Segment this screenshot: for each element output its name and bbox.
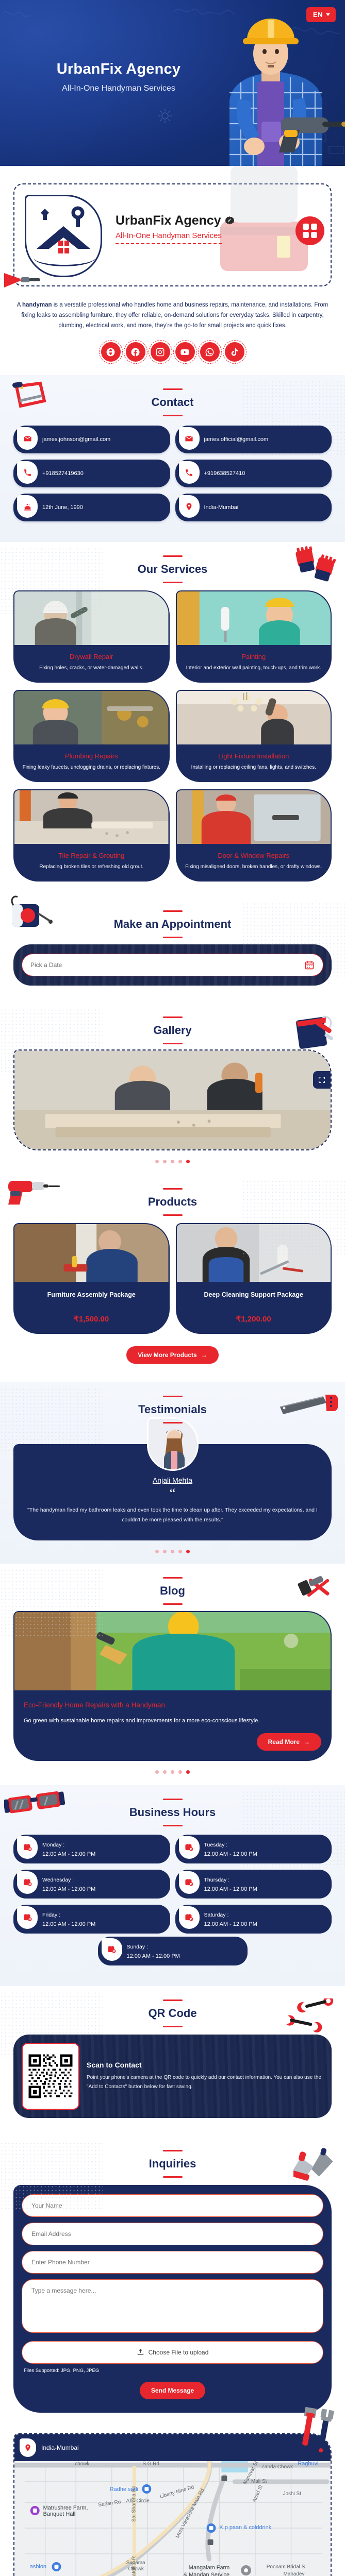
service-name: Door & Window Repairs xyxy=(183,852,325,859)
service-card[interactable]: Light Fixture Installation Installing or… xyxy=(176,690,332,782)
map-header: India-Mumbai xyxy=(14,2434,331,2461)
service-name: Painting xyxy=(183,653,325,660)
calendar-icon xyxy=(304,960,315,970)
gallery-title: Gallery xyxy=(0,1016,345,1044)
brand-tagline: All-In-One Handyman Services xyxy=(116,231,222,244)
email-input[interactable] xyxy=(22,2223,323,2245)
pagination-dot[interactable] xyxy=(178,1550,182,1553)
svg-text:Raghuvi: Raghuvi xyxy=(298,2461,318,2467)
service-image xyxy=(177,790,331,844)
svg-text:Poonam Bridal S: Poonam Bridal S xyxy=(267,2564,305,2570)
blog-post-title: Eco-Friendly Home Repairs with a Handyma… xyxy=(24,1701,321,1709)
service-image xyxy=(177,691,331,744)
pliers-decoration-icon xyxy=(3,270,44,291)
svg-text:Sudama: Sudama xyxy=(126,2560,145,2566)
pagination-dot-active[interactable] xyxy=(186,1160,190,1163)
pagination-dot-active[interactable] xyxy=(186,1770,190,1774)
svg-text:Joshi St: Joshi St xyxy=(283,2491,302,2497)
whatsapp-icon[interactable] xyxy=(200,342,220,362)
service-name: Drywall Repair xyxy=(21,653,162,660)
cake-icon xyxy=(17,495,38,518)
product-price: ₹1,200.00 xyxy=(182,1314,326,1324)
appointment-card: Pick a Date xyxy=(13,944,332,986)
vcard-page: EN UrbanFix Agency All-In-One Handyman S… xyxy=(0,0,345,2576)
language-selector[interactable]: EN xyxy=(306,7,336,22)
date-picker-input[interactable]: Pick a Date xyxy=(22,954,323,976)
youtube-icon[interactable] xyxy=(175,342,195,362)
business-hour-day: Saturday : xyxy=(204,1912,229,1918)
pagination-dot[interactable] xyxy=(178,1160,182,1163)
gallery-slide[interactable] xyxy=(13,1049,332,1150)
business-hour-day: Friday : xyxy=(42,1912,60,1918)
service-desc: Fixing holes, cracks, or water-damaged w… xyxy=(21,664,162,672)
arrow-right-icon: → xyxy=(304,1738,310,1745)
service-image xyxy=(14,790,169,844)
service-card[interactable]: Door & Window Repairs Fixing misaligned … xyxy=(176,789,332,882)
pagination-dot[interactable] xyxy=(171,1160,174,1163)
inquiries-title: Inquiries xyxy=(0,2150,345,2178)
gallery-pagination xyxy=(13,1150,332,1166)
brand-name: UrbanFix Agency xyxy=(116,213,221,228)
calendar-clock-icon xyxy=(17,1836,38,1859)
business-hour-time: 12:00 AM - 12:00 PM xyxy=(204,1921,257,1927)
pagination-dot[interactable] xyxy=(178,1770,182,1774)
business-hour-time: 12:00 AM - 12:00 PM xyxy=(127,1953,180,1959)
contact-item-location[interactable]: India-Mumbai xyxy=(175,494,332,521)
svg-text:Chowk: Chowk xyxy=(128,2566,144,2572)
business-hour-row: Friday : 12:00 AM - 12:00 PM xyxy=(13,1905,170,1934)
calendar-clock-icon xyxy=(17,1871,38,1894)
pagination-dot[interactable] xyxy=(155,1160,159,1163)
language-label: EN xyxy=(313,11,323,19)
phone-icon xyxy=(17,461,38,484)
testimonials-title: Testimonials xyxy=(0,1396,345,1423)
contact-item-email-2[interactable]: james.official@gmail.com xyxy=(175,426,332,453)
testimonial-text: "The handyman fixed my bathroom leaks an… xyxy=(25,1505,320,1525)
business-hour-time: 12:00 AM - 12:00 PM xyxy=(204,1851,257,1857)
product-name: Deep Cleaning Support Package xyxy=(182,1291,326,1309)
business-hours-grid: Monday : 12:00 AM - 12:00 PM Tuesday : 1… xyxy=(0,1826,345,1937)
service-name: Tile Repair & Grouting xyxy=(21,852,162,859)
contact-item-birthday[interactable]: 12th June, 1990 xyxy=(13,494,170,521)
social-links xyxy=(0,342,345,362)
service-desc: Replacing broken tiles or refreshing old… xyxy=(21,863,162,871)
message-textarea[interactable] xyxy=(22,2279,323,2333)
contact-value: james.official@gmail.com xyxy=(204,436,269,443)
qr-card: Scan to Contact Point your phone's camer… xyxy=(13,2035,332,2118)
testimonials-section: Testimonials Anjali Mehta “ "The handyma… xyxy=(0,1382,345,1564)
contact-item-email-1[interactable]: james.johnson@gmail.com xyxy=(13,426,170,453)
product-image xyxy=(14,1224,169,1282)
qr-card-title: Scan to Contact xyxy=(87,2061,323,2069)
pagination-dot[interactable] xyxy=(155,1550,159,1553)
business-hour-row: Wednesday : 12:00 AM - 12:00 PM xyxy=(13,1870,170,1899)
calendar-clock-icon xyxy=(179,1871,200,1894)
calendar-clock-icon xyxy=(179,1836,200,1859)
calendar-clock-icon xyxy=(179,1906,200,1929)
file-upload-button[interactable]: Choose File to upload xyxy=(22,2341,323,2364)
business-hour-time: 12:00 AM - 12:00 PM xyxy=(42,1921,95,1927)
service-card[interactable]: Tile Repair & Grouting Replacing broken … xyxy=(13,789,170,882)
inquiries-section: Inquiries Choose File to upload Files Su… xyxy=(0,2137,345,2430)
service-card[interactable]: Plumbing Repairs Fixing leaky faucets, u… xyxy=(13,690,170,782)
svg-text:chowk: chowk xyxy=(75,2461,89,2467)
svg-text:ashion: ashion xyxy=(30,2564,46,2570)
pagination-dot[interactable] xyxy=(171,1770,174,1774)
business-hour-day: Monday : xyxy=(42,1842,64,1848)
about-keyword: handyman xyxy=(22,302,52,308)
file-upload-label: Choose File to upload xyxy=(149,2349,209,2356)
services-title: Our Services xyxy=(0,555,345,583)
service-name: Light Fixture Installation xyxy=(183,752,325,760)
brand-card: UrbanFix Agency ✓ All-In-One Handyman Se… xyxy=(13,183,332,286)
svg-text:Banquet Hall: Banquet Hall xyxy=(43,2511,76,2517)
svg-text:S.G Rd: S.G Rd xyxy=(142,2461,159,2467)
svg-text:K.p paan & colddrink: K.p paan & colddrink xyxy=(219,2524,271,2531)
website-icon[interactable] xyxy=(101,342,121,362)
arrow-right-icon: → xyxy=(201,1351,207,1359)
calendar-clock-icon xyxy=(17,1906,38,1929)
location-icon xyxy=(20,2438,36,2457)
hero-banner: EN UrbanFix Agency All-In-One Handyman S… xyxy=(0,0,345,166)
chevron-down-icon xyxy=(326,13,330,16)
testimonials-pagination xyxy=(13,1540,332,1556)
appointment-section: Make an Appointment Pick a Date xyxy=(0,897,345,1003)
hero-text-block: UrbanFix Agency All-In-One Handyman Serv… xyxy=(0,61,237,93)
business-hour-row-sunday: Sunday : 12:00 AM - 12:00 PM xyxy=(98,1937,248,1965)
qr-code-image[interactable] xyxy=(22,2043,79,2110)
svg-text:Zanda Chowk: Zanda Chowk xyxy=(261,2464,293,2470)
quote-icon: “ xyxy=(25,1488,320,1499)
about-section: UrbanFix Agency ✓ All-In-One Handyman Se… xyxy=(0,166,345,375)
svg-text:Abc Circle: Abc Circle xyxy=(126,2498,150,2504)
expand-icon[interactable] xyxy=(313,1071,331,1089)
business-hour-row: Tuesday : 12:00 AM - 12:00 PM xyxy=(175,1835,332,1863)
blog-section: Blog Eco-Friendly Home Repairs with a Ha… xyxy=(0,1564,345,1785)
testimonial-author: Anjali Mehta xyxy=(25,1476,320,1484)
pagination-dot[interactable] xyxy=(163,1160,167,1163)
product-card[interactable]: Furniture Assembly Package ₹1,500.00 xyxy=(13,1223,170,1334)
business-hour-day: Thursday : xyxy=(204,1877,230,1883)
contact-value: +919638527410 xyxy=(204,470,245,477)
contact-title: Contact xyxy=(0,388,345,416)
calendar-clock-icon xyxy=(102,1938,122,1961)
verified-badge-icon: ✓ xyxy=(225,216,234,225)
map-canvas[interactable]: chowk S.G Rd Zanda Chowk Nanavat St Mali… xyxy=(14,2461,331,2576)
contact-value: 12th June, 1990 xyxy=(42,504,83,511)
contact-item-phone-1[interactable]: +918527419630 xyxy=(13,460,170,487)
pagination-dot-active[interactable] xyxy=(186,1550,190,1553)
business-hour-day: Sunday : xyxy=(127,1944,148,1950)
svg-text:Mangalam Farm: Mangalam Farm xyxy=(189,2565,229,2571)
services-section: Our Services Drywall Repair Fixing holes… xyxy=(0,542,345,897)
map-section: India-Mumbai xyxy=(0,2430,345,2576)
facebook-icon[interactable] xyxy=(126,342,145,362)
business-hour-time: 12:00 AM - 12:00 PM xyxy=(42,1886,95,1892)
svg-text:Mali St: Mali St xyxy=(251,2479,267,2484)
gear-icon xyxy=(155,106,175,126)
contact-section: Contact james.johnson@gmail.com james.of… xyxy=(0,375,345,542)
svg-text:Radhe sadi: Radhe sadi xyxy=(110,2486,138,2493)
date-placeholder: Pick a Date xyxy=(30,961,62,969)
service-image xyxy=(14,691,169,744)
contact-value: India-Mumbai xyxy=(204,504,239,511)
avatar xyxy=(147,1417,199,1471)
pagination-dot[interactable] xyxy=(163,1770,167,1774)
testimonial-card: Anjali Mehta “ "The handyman fixed my ba… xyxy=(13,1444,332,1540)
product-price: ₹1,500.00 xyxy=(20,1314,163,1324)
instagram-icon[interactable] xyxy=(151,342,170,362)
email-icon xyxy=(179,427,200,450)
business-hour-row: Thursday : 12:00 AM - 12:00 PM xyxy=(175,1870,332,1899)
map-card: India-Mumbai xyxy=(13,2433,332,2576)
send-message-button[interactable]: Send Message xyxy=(140,2382,205,2399)
service-desc: Fixing misaligned doors, broken handles,… xyxy=(183,863,325,871)
about-description: A handyman is a versatile professional w… xyxy=(13,300,332,331)
map-location-label: India-Mumbai xyxy=(41,2444,79,2451)
tiktok-icon[interactable] xyxy=(225,342,244,362)
business-hours-title: Business Hours xyxy=(0,1799,345,1826)
business-hour-day: Wednesday : xyxy=(42,1877,74,1883)
send-message-label: Send Message xyxy=(151,2387,194,2394)
service-card[interactable]: Painting Interior and exterior wall pain… xyxy=(176,590,332,683)
hero-subtitle: All-In-One Handyman Services xyxy=(0,84,237,93)
file-support-note: Files Supported: JPG, PNG, JPEG xyxy=(24,2368,323,2374)
service-name: Plumbing Repairs xyxy=(21,752,162,760)
phone-icon xyxy=(179,461,200,484)
hero-title: UrbanFix Agency xyxy=(0,61,237,78)
products-section: Products Furniture Assembly Package ₹1,5… xyxy=(0,1175,345,1382)
grid-menu-button[interactable] xyxy=(295,216,324,245)
business-hours-section: Business Hours Monday : 12:00 AM - 12:00… xyxy=(0,1785,345,1986)
products-title: Products xyxy=(0,1188,345,1216)
service-desc: Installing or replacing ceiling fans, li… xyxy=(183,764,325,772)
gallery-image xyxy=(14,1050,331,1149)
phone-input[interactable] xyxy=(22,2251,323,2274)
pagination-dot[interactable] xyxy=(155,1770,159,1774)
read-more-label: Read More xyxy=(268,1738,300,1745)
pagination-dot[interactable] xyxy=(163,1550,167,1553)
service-desc: Interior and exterior wall painting, tou… xyxy=(183,664,325,672)
product-name: Furniture Assembly Package xyxy=(20,1291,163,1309)
svg-text:Matrushree Farm,: Matrushree Farm, xyxy=(43,2505,88,2511)
svg-text:Mahadev: Mahadev xyxy=(284,2571,305,2576)
contact-list: james.johnson@gmail.com james.official@g… xyxy=(0,416,345,537)
blog-title: Blog xyxy=(0,1577,345,1605)
business-hour-row: Saturday : 12:00 AM - 12:00 PM xyxy=(175,1905,332,1934)
qr-card-desc: Point your phone's camera at the QR code… xyxy=(87,2073,323,2091)
upload-icon xyxy=(137,2348,144,2356)
view-more-products-button[interactable]: View More Products → xyxy=(126,1346,218,1364)
brand-identity: UrbanFix Agency ✓ All-In-One Handyman Se… xyxy=(116,213,234,244)
service-image xyxy=(177,591,331,645)
services-grid: Drywall Repair Fixing holes, cracks, or … xyxy=(0,583,345,892)
business-hour-row: Monday : 12:00 AM - 12:00 PM xyxy=(13,1835,170,1863)
inquiry-form: Choose File to upload Files Supported: J… xyxy=(13,2185,332,2413)
blog-post-desc: Go green with sustainable home repairs a… xyxy=(24,1716,321,1726)
location-icon xyxy=(179,495,200,518)
logo-mark xyxy=(25,195,102,277)
business-hour-time: 12:00 AM - 12:00 PM xyxy=(204,1886,257,1892)
view-more-products-label: View More Products xyxy=(138,1351,196,1359)
contact-value: james.johnson@gmail.com xyxy=(42,436,110,443)
pagination-dot[interactable] xyxy=(171,1550,174,1553)
blog-pagination xyxy=(13,1761,332,1777)
gallery-section: Gallery xyxy=(0,1003,345,1175)
contact-item-phone-2[interactable]: +919638527410 xyxy=(175,460,332,487)
svg-text:& Mandap Service: & Mandap Service xyxy=(184,2572,229,2576)
qr-section-title: QR Code xyxy=(0,1999,345,2027)
read-more-button[interactable]: Read More → xyxy=(257,1733,321,1751)
email-icon xyxy=(17,427,38,450)
qr-section: QR Code xyxy=(0,1986,345,2137)
appointment-title: Make an Appointment xyxy=(0,910,345,938)
contact-value: +918527419630 xyxy=(42,470,84,477)
business-hour-day: Tuesday : xyxy=(204,1842,228,1848)
service-desc: Fixing leaky faucets, unclogging drains,… xyxy=(21,764,162,772)
business-hour-time: 12:00 AM - 12:00 PM xyxy=(42,1851,95,1857)
